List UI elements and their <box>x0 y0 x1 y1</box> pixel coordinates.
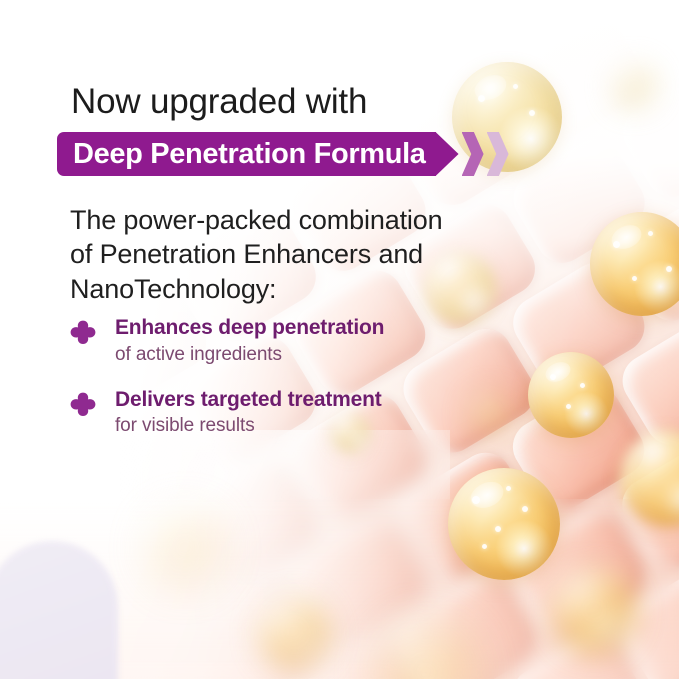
list-item-text: Delivers targeted treatment for visible … <box>115 388 382 438</box>
clover-plus-icon <box>68 391 98 421</box>
list-item: Enhances deep penetration of active ingr… <box>68 316 384 366</box>
banner-body: Deep Penetration Formula <box>57 132 436 176</box>
list-item-subtitle: of active ingredients <box>115 343 384 366</box>
banner-chevron-point-icon <box>436 132 459 176</box>
lede-line: The power-packed combination <box>70 203 443 237</box>
chevron-right-icon <box>462 132 484 176</box>
list-item: Delivers targeted treatment for visible … <box>68 388 384 438</box>
benefit-list: Enhances deep penetration of active ingr… <box>68 316 384 459</box>
kicker-headline: Now upgraded with <box>71 82 367 122</box>
lede-line: of Penetration Enhancers and <box>70 237 443 271</box>
list-item-text: Enhances deep penetration of active ingr… <box>115 316 384 366</box>
list-item-subtitle: for visible results <box>115 414 382 437</box>
promo-poster: Now upgraded with Deep Penetration Formu… <box>0 0 679 679</box>
lede-paragraph: The power-packed combination of Penetrat… <box>70 203 443 306</box>
clover-plus-icon <box>68 319 98 349</box>
lede-line: NanoTechnology: <box>70 272 443 306</box>
list-item-title: Delivers targeted treatment <box>115 388 382 412</box>
chevron-right-icon <box>487 132 509 176</box>
list-item-title: Enhances deep penetration <box>115 316 384 340</box>
banner-label: Deep Penetration Formula <box>73 138 426 171</box>
poster-content: Now upgraded with Deep Penetration Formu… <box>0 0 679 679</box>
formula-banner: Deep Penetration Formula <box>57 132 509 176</box>
